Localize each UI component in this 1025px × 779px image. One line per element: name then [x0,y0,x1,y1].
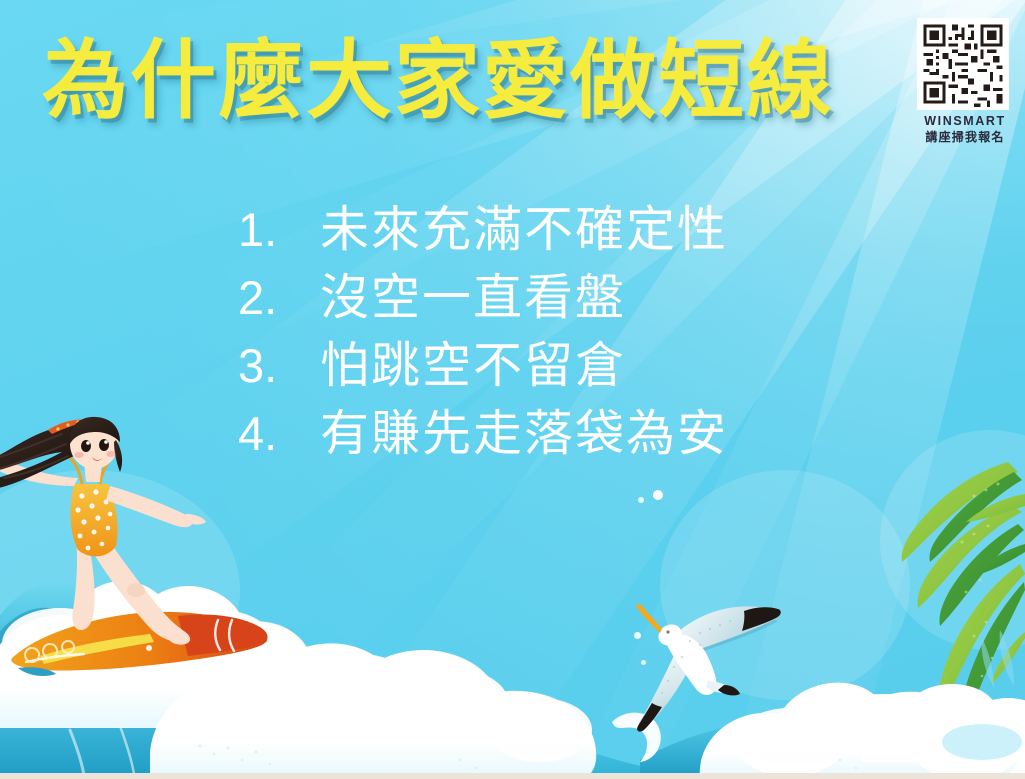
qr-code-icon[interactable] [917,18,1009,110]
list-item-label: 怕跳空不留倉 [320,342,626,391]
bubble-icon [638,497,644,503]
list-item: 1. 未來充滿不確定性 [238,206,728,274]
bottom-strip [0,773,1025,779]
list-item-label: 沒空一直看盤 [320,274,626,323]
reasons-list: 1. 未來充滿不確定性 2. 沒空一直看盤 3. 怕跳空不留倉 4. 有賺先走落… [238,206,728,478]
bubble-icon [146,645,152,651]
qr-caption-label: 講座掃我報名 [917,131,1013,144]
list-item-label: 未來充滿不確定性 [320,206,728,255]
list-item-number: 1. [238,206,320,253]
list-item-label: 有賺先走落袋為安 [320,410,728,459]
list-item: 2. 沒空一直看盤 [238,274,728,342]
list-item-number: 3. [238,342,320,389]
slide-canvas: 為什麼大家愛做短線 [0,0,1025,779]
list-item-number: 4. [238,410,320,457]
list-item-number: 2. [238,274,320,321]
bubble-icon [653,490,663,500]
bubble-icon [634,632,641,639]
page-title: 為什麼大家愛做短線 [42,36,834,126]
qr-badge[interactable]: WINSMART 講座掃我報名 [917,18,1013,144]
qr-brand-label: WINSMART [917,115,1013,128]
bubble-icon [641,660,646,665]
list-item: 3. 怕跳空不留倉 [238,342,728,410]
list-item: 4. 有賺先走落袋為安 [238,410,728,478]
